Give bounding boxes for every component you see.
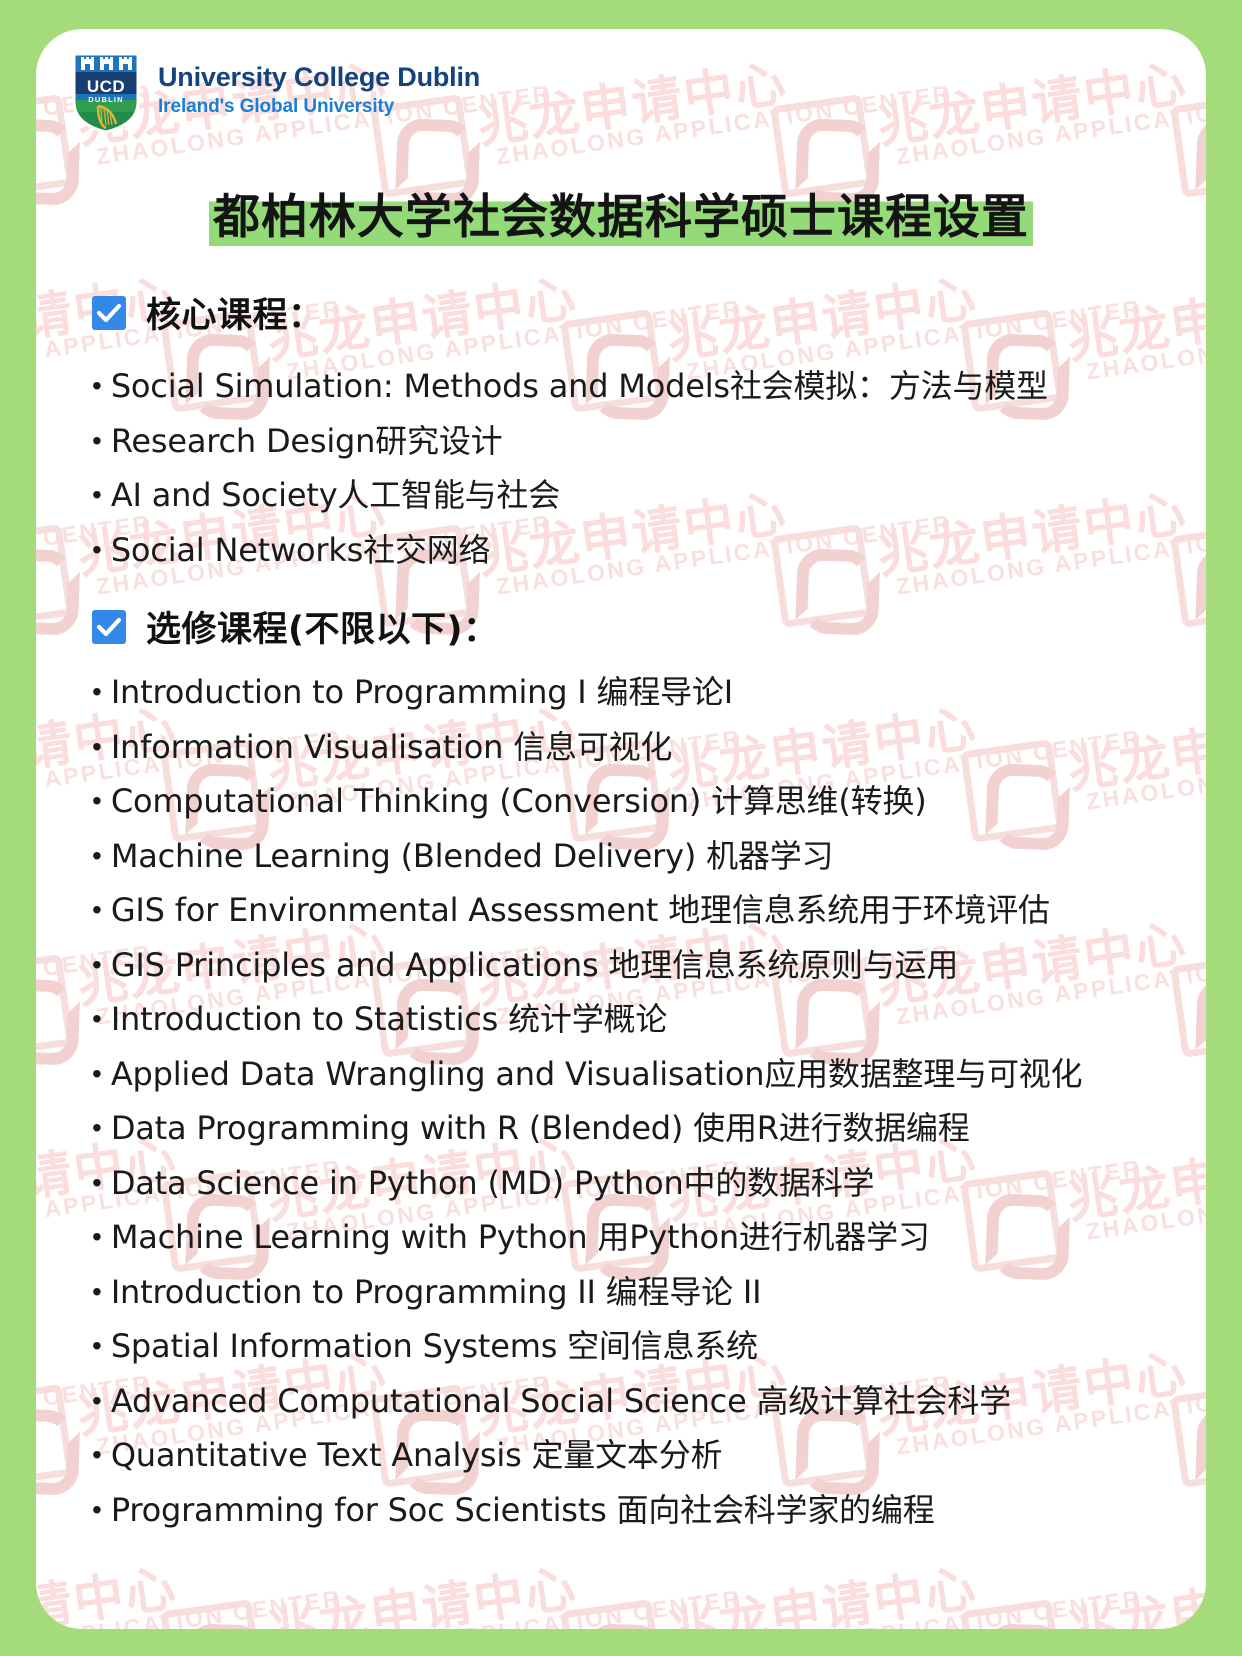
- course-label: Machine Learning (Blended Delivery) 机器学习: [111, 829, 834, 884]
- watermark-logo-icon: [36, 524, 74, 628]
- bullet-icon: •: [92, 774, 102, 829]
- course-item: •Introduction to Programming I 编程导论I: [92, 665, 1082, 720]
- watermark-tile: 兆龙申请中心ZHAOLONG APPLICATION CENTER: [559, 1545, 993, 1629]
- course-label: GIS Principles and Applications 地理信息系统原则…: [111, 938, 958, 993]
- bullet-icon: •: [92, 1319, 102, 1374]
- course-item: •GIS for Environmental Assessment 地理信息系统…: [92, 883, 1082, 938]
- course-label: GIS for Environmental Assessment 地理信息系统用…: [111, 883, 1050, 938]
- course-item: •Applied Data Wrangling and Visualisatio…: [92, 1047, 1082, 1102]
- poster-card: 兆龙申请中心ZHAOLONG APPLICATION CENTER兆龙申请中心Z…: [36, 29, 1206, 1629]
- course-item: •Data Programming with R (Blended) 使用R进行…: [92, 1101, 1082, 1156]
- checkbox-checked-icon: [92, 296, 126, 330]
- course-item: •Computational Thinking (Conversion) 计算思…: [92, 774, 1082, 829]
- course-label: Introduction to Programming I 编程导论I: [111, 665, 733, 720]
- watermark-tile: 兆龙申请中心ZHAOLONG APPLICATION CENTER: [959, 1545, 1206, 1629]
- course-item: •Machine Learning with Python 用Python进行机…: [92, 1210, 1082, 1265]
- course-item: •Quantitative Text Analysis 定量文本分析: [92, 1428, 1082, 1483]
- course-list-elective: •Introduction to Programming I 编程导论I•Inf…: [92, 665, 1082, 1537]
- ucd-logo-block: UCD DUBLIN University College Dublin Ire…: [72, 52, 480, 134]
- bullet-icon: •: [92, 523, 102, 578]
- watermark-logo-icon: [960, 1599, 1064, 1629]
- course-label: AI and Society人工智能与社会: [111, 468, 560, 523]
- course-item: •Programming for Soc Scientists 面向社会科学家的…: [92, 1483, 1082, 1538]
- bullet-icon: •: [92, 468, 102, 523]
- watermark-tile: 兆龙申请中心ZHAOLONG APPLICATION CENTER: [1169, 900, 1206, 1087]
- watermark-english-text: ZHAOLONG APPLICATION CENTER: [1084, 1155, 1206, 1246]
- course-label: Introduction to Statistics 统计学概论: [111, 992, 667, 1047]
- bullet-icon: •: [92, 665, 102, 720]
- course-label: Data Science in Python (MD) Python中的数据科学: [111, 1156, 875, 1211]
- watermark-logo-icon: [36, 1384, 74, 1488]
- watermark-chinese-text: 兆龙申请中心: [36, 1548, 181, 1629]
- watermark-logo-icon: [1170, 954, 1206, 1058]
- bullet-icon: •: [92, 883, 102, 938]
- course-label: Spatial Information Systems 空间信息系统: [111, 1319, 758, 1374]
- checkbox-checked-icon: [92, 610, 126, 644]
- watermark-english-text: ZHAOLONG APPLICATION CENTER: [1084, 1585, 1206, 1629]
- course-label: Social Networks社交网络: [111, 523, 491, 578]
- course-label: Research Design研究设计: [111, 414, 503, 469]
- course-list-core: •Social Simulation: Methods and Models社会…: [92, 359, 1048, 577]
- ucd-crest-icon: UCD DUBLIN: [72, 52, 140, 134]
- watermark-chinese-text: 兆龙申请中心: [1062, 1548, 1206, 1629]
- watermark-tile: 兆龙申请中心ZHAOLONG APPLICATION CENTER: [1169, 470, 1206, 657]
- page-title-row: 都柏林大学社会数据科学硕士课程设置: [36, 189, 1206, 246]
- bullet-icon: •: [92, 1101, 102, 1156]
- course-label: Computational Thinking (Conversion) 计算思维…: [111, 774, 927, 829]
- course-item: •Spatial Information Systems 空间信息系统: [92, 1319, 1082, 1374]
- course-label: Information Visualisation 信息可视化: [111, 720, 672, 775]
- watermark-logo-icon: [1170, 524, 1206, 628]
- course-label: Applied Data Wrangling and Visualisation…: [111, 1047, 1083, 1102]
- bullet-icon: •: [92, 1156, 102, 1211]
- course-item: •Research Design研究设计: [92, 414, 1048, 469]
- section-title-core: 核心课程：: [146, 287, 324, 338]
- bullet-icon: •: [92, 1210, 102, 1265]
- watermark-tile: 兆龙申请中心ZHAOLONG APPLICATION CENTER: [1169, 1330, 1206, 1517]
- bullet-icon: •: [92, 829, 102, 884]
- bullet-icon: •: [92, 1428, 102, 1483]
- course-item: •Introduction to Programming II 编程导论 II: [92, 1265, 1082, 1320]
- bullet-icon: •: [92, 938, 102, 993]
- watermark-english-text: ZHAOLONG APPLICATION CENTER: [1084, 725, 1206, 816]
- course-label: Machine Learning with Python 用Python进行机器…: [111, 1210, 930, 1265]
- bullet-icon: •: [92, 1047, 102, 1102]
- bullet-icon: •: [92, 359, 102, 414]
- watermark-english-text: ZHAOLONG APPLICATION CENTER: [1084, 295, 1206, 386]
- watermark-chinese-text: 兆龙申请中心: [1062, 258, 1206, 373]
- watermark-english-text: ZHAOLONG APPLICATION CENTER: [684, 1585, 1143, 1629]
- svg-text:DUBLIN: DUBLIN: [88, 95, 124, 104]
- ucd-logo-text: University College Dublin Ireland's Glob…: [158, 62, 480, 124]
- course-item: •Machine Learning (Blended Delivery) 机器学…: [92, 829, 1082, 884]
- watermark-chinese-text: 兆龙申请中心: [872, 43, 1191, 158]
- watermark-english-text: ZHAOLONG APPLICATION CENTER: [894, 80, 1206, 171]
- watermark-tile: 兆龙申请中心ZHAOLONG APPLICATION CENTER: [36, 1545, 193, 1629]
- watermark-english-text: ZHAOLONG APPLICATION CENTER: [284, 1585, 743, 1629]
- course-item: •Advanced Computational Social Science 高…: [92, 1374, 1082, 1429]
- watermark-tile: 兆龙申请中心ZHAOLONG APPLICATION CENTER: [159, 1545, 593, 1629]
- ucd-tagline: Ireland's Global University: [158, 95, 480, 120]
- course-label: Social Simulation: Methods and Models社会模…: [111, 359, 1048, 414]
- watermark-chinese-text: 兆龙申请中心: [262, 1548, 581, 1629]
- watermark-logo-icon: [560, 1599, 664, 1629]
- section-title-elective: 选修课程(不限以下)：: [146, 601, 499, 652]
- bullet-icon: •: [92, 720, 102, 775]
- svg-text:UCD: UCD: [87, 77, 125, 96]
- course-label: Data Programming with R (Blended) 使用R进行数…: [111, 1101, 970, 1156]
- bullet-icon: •: [92, 992, 102, 1047]
- ucd-name: University College Dublin: [158, 62, 480, 93]
- watermark-logo-icon: [36, 94, 74, 198]
- bullet-icon: •: [92, 1265, 102, 1320]
- watermark-chinese-text: 兆龙申请中心: [662, 1548, 981, 1629]
- course-label: Quantitative Text Analysis 定量文本分析: [111, 1428, 723, 1483]
- watermark-chinese-text: 兆龙申请中心: [662, 258, 981, 373]
- course-item: •Social Simulation: Methods and Models社会…: [92, 359, 1048, 414]
- bullet-icon: •: [92, 1374, 102, 1429]
- section-heading-elective: 选修课程(不限以下)：: [92, 601, 499, 652]
- course-label: Introduction to Programming II 编程导论 II: [111, 1265, 762, 1320]
- bullet-icon: •: [92, 1483, 102, 1538]
- watermark-logo-icon: [36, 954, 74, 1058]
- watermark-logo-icon: [1170, 1384, 1206, 1488]
- bullet-icon: •: [92, 414, 102, 469]
- section-heading-core: 核心课程：: [92, 287, 324, 338]
- course-label: Programming for Soc Scientists 面向社会科学家的编…: [111, 1483, 935, 1538]
- course-item: •Data Science in Python (MD) Python中的数据科…: [92, 1156, 1082, 1211]
- course-item: •GIS Principles and Applications 地理信息系统原…: [92, 938, 1082, 993]
- course-item: •Introduction to Statistics 统计学概论: [92, 992, 1082, 1047]
- watermark-english-text: ZHAOLONG APPLICATION CENTER: [36, 1585, 344, 1629]
- watermark-logo-icon: [160, 1599, 264, 1629]
- watermark-chinese-text: 兆龙申请中心: [1062, 688, 1206, 803]
- watermark-english-text: ZHAOLONG APPLICATION CENTER: [494, 80, 953, 171]
- watermark-logo-icon: [770, 94, 874, 198]
- course-item: •AI and Society人工智能与社会: [92, 468, 1048, 523]
- course-item: •Information Visualisation 信息可视化: [92, 720, 1082, 775]
- watermark-logo-icon: [1170, 94, 1206, 198]
- watermark-chinese-text: 兆龙申请中心: [472, 43, 791, 158]
- page-title: 都柏林大学社会数据科学硕士课程设置: [209, 189, 1033, 246]
- watermark-chinese-text: 兆龙申请中心: [1062, 1118, 1206, 1233]
- course-label: Advanced Computational Social Science 高级…: [111, 1374, 1011, 1429]
- course-item: •Social Networks社交网络: [92, 523, 1048, 578]
